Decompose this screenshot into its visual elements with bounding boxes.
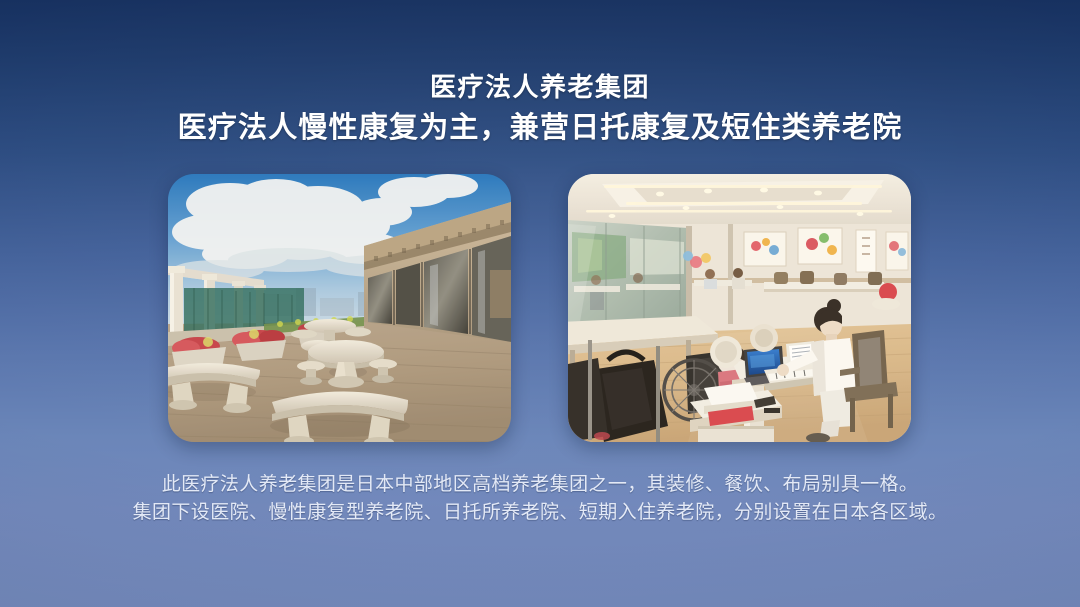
photo-row: [0, 174, 1080, 442]
slide-title-line-2: 医疗法人慢性康复为主，兼营日托康复及短住类养老院: [0, 108, 1080, 146]
rooftop-terrace-photo: [168, 174, 511, 442]
rooftop-terrace-illustration: [168, 174, 511, 442]
slide-title-line-1: 医疗法人养老集团: [0, 72, 1080, 104]
slide-caption-line-1: 此医疗法人养老集团是日本中部地区高档养老集团之一，其装修、餐饮、布局别具一格。: [0, 470, 1080, 498]
presentation-slide: 医疗法人养老集团 医疗法人慢性康复为主，兼营日托康复及短住类养老院: [0, 0, 1080, 607]
slide-caption-block: 此医疗法人养老集团是日本中部地区高档养老集团之一，其装修、餐饮、布局别具一格。 …: [0, 470, 1080, 526]
slide-caption-line-2: 集团下设医院、慢性康复型养老院、日托所养老院、短期入住养老院，分别设置在日本各区…: [0, 498, 1080, 526]
day-care-room-illustration: [568, 174, 911, 442]
day-care-rehab-room-photo: [568, 174, 911, 442]
slide-title-block: 医疗法人养老集团 医疗法人慢性康复为主，兼营日托康复及短住类养老院: [0, 72, 1080, 146]
